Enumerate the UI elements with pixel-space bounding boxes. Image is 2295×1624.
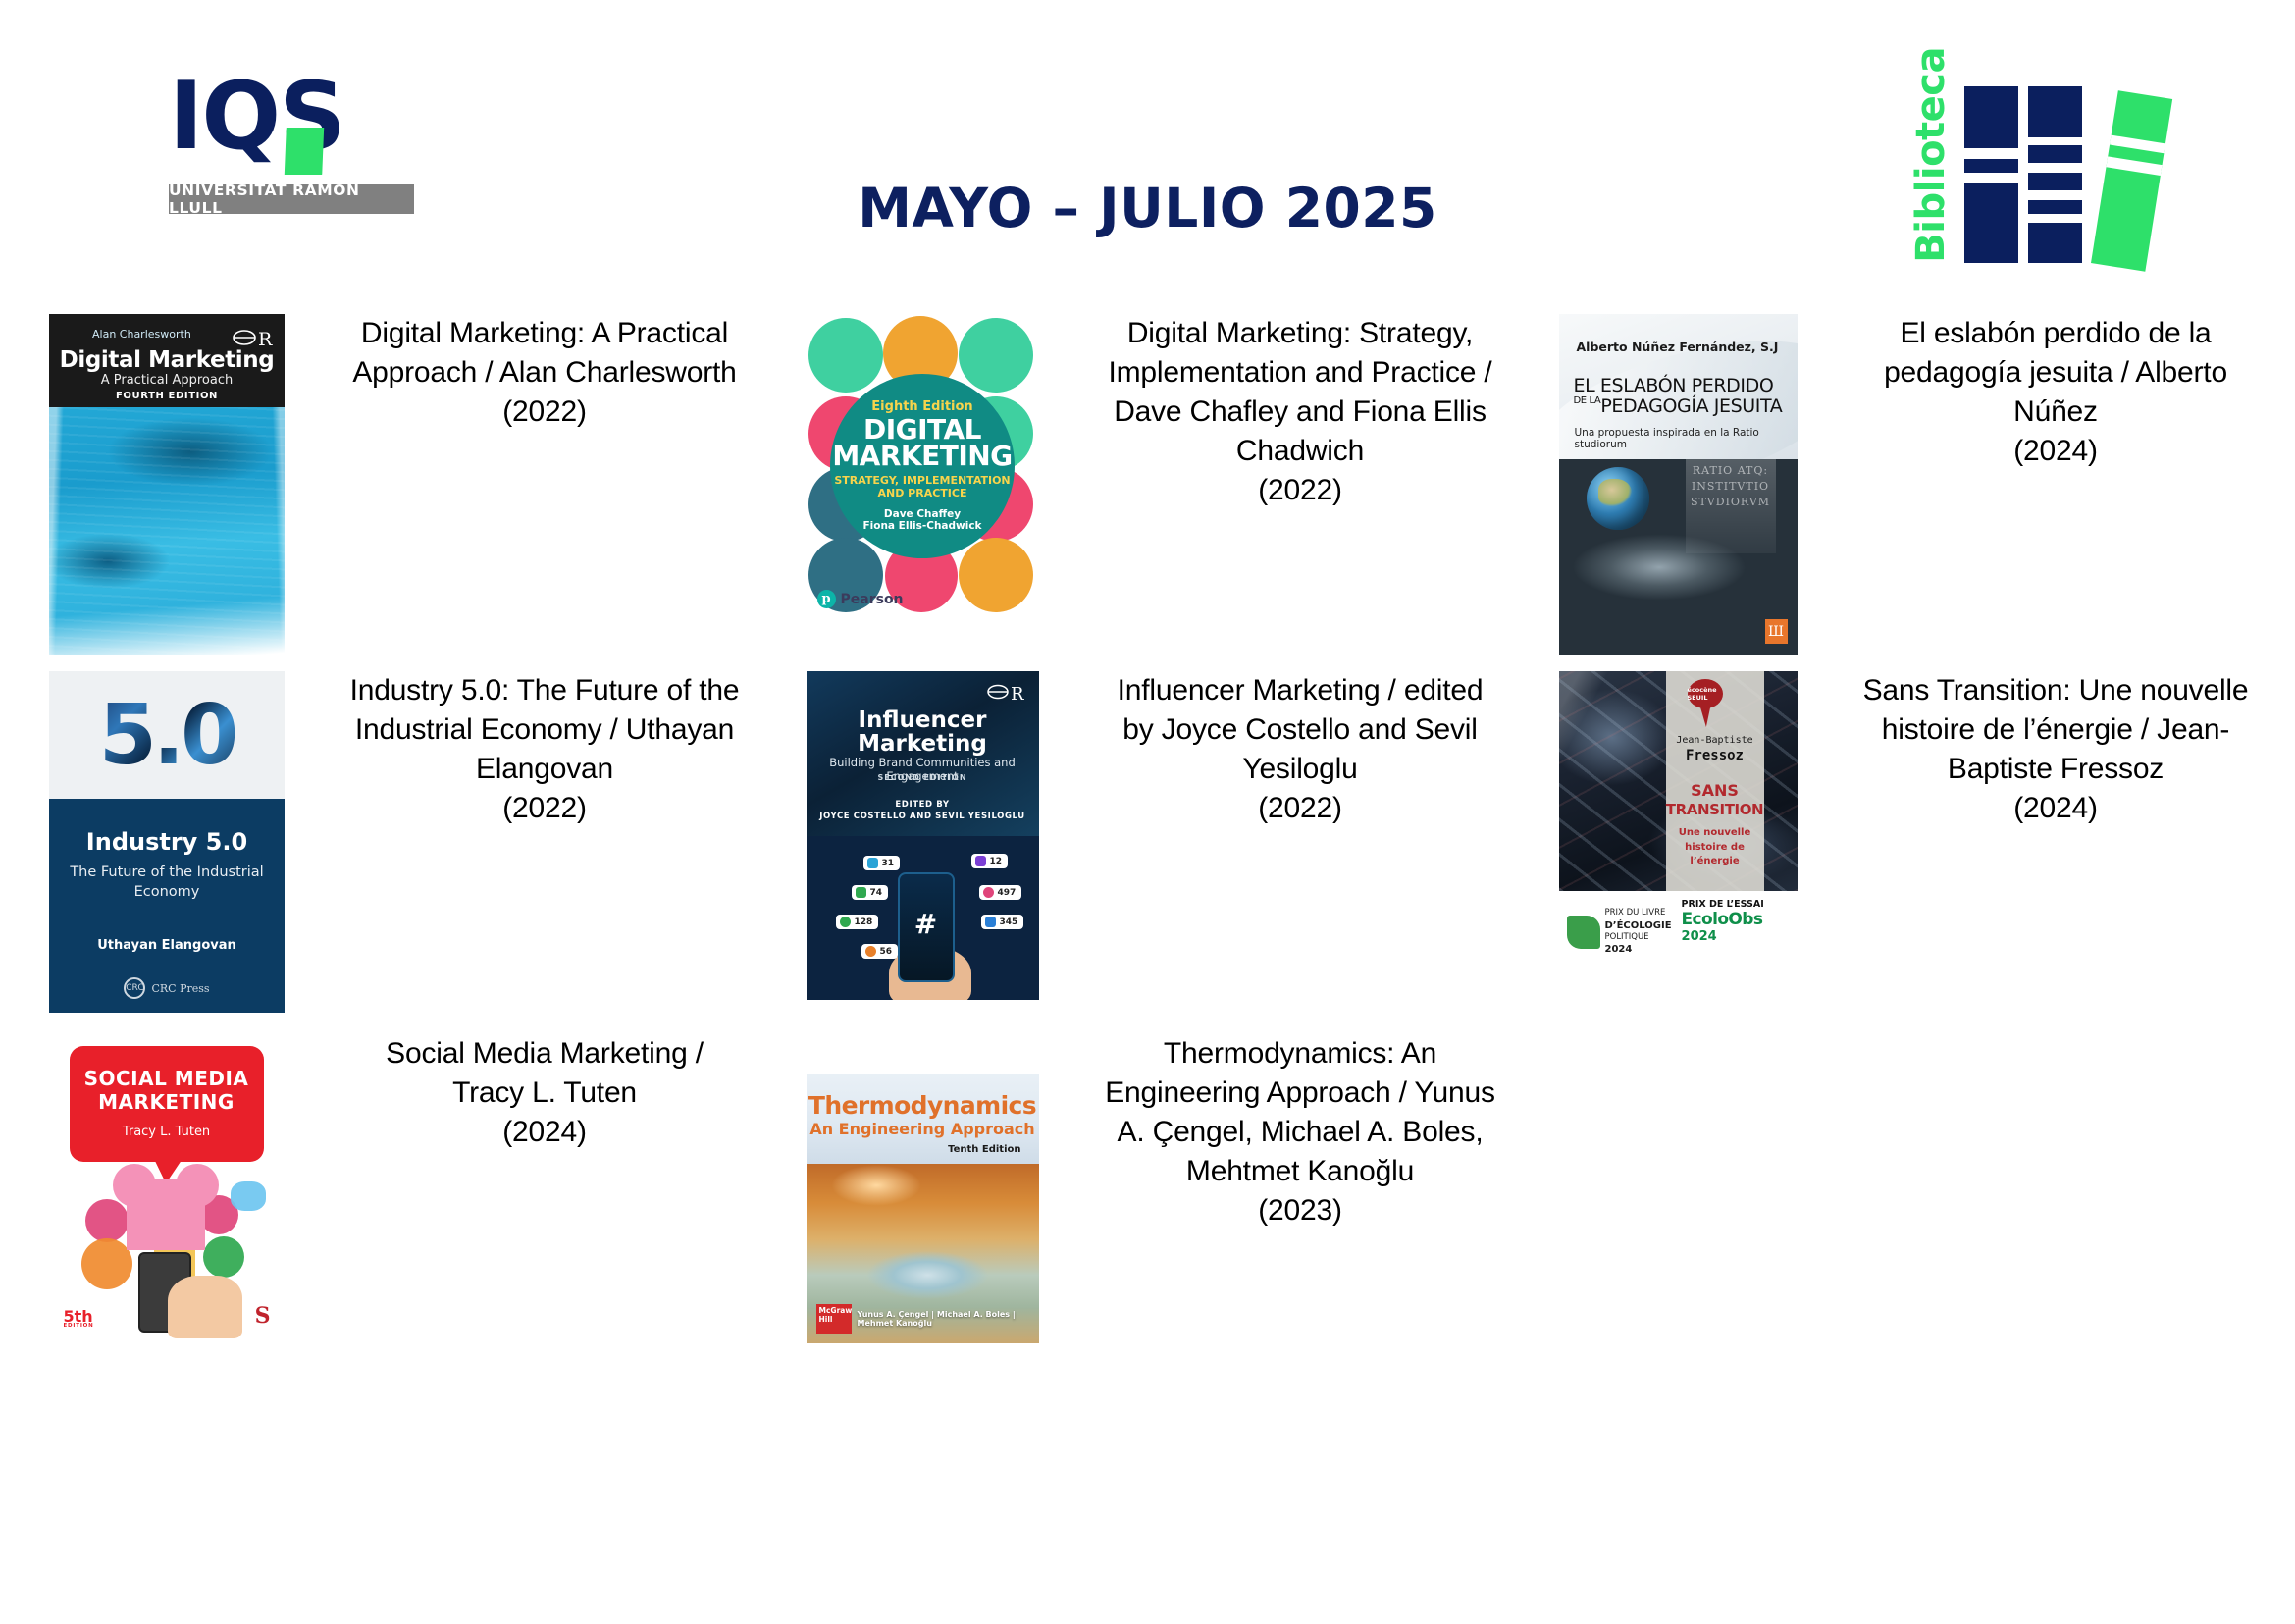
thumbs-up-badge-value: 74 bbox=[870, 888, 883, 898]
cover-author: Uthayan Elangovan bbox=[49, 938, 285, 953]
cover-text-band: écocène SEUIL Jean-Baptiste Fressoz SANS… bbox=[1666, 671, 1764, 891]
book-cover-cell-6: écocène SEUIL Jean-Baptiste Fressoz SANS… bbox=[1511, 671, 1845, 1013]
cover-title-line-1: EL ESLABÓN PERDIDO bbox=[1574, 375, 1774, 396]
book-cover-cell-8: Thermodynamics An Engineering Approach T… bbox=[756, 1034, 1089, 1343]
heart-badge-value: 497 bbox=[998, 888, 1017, 898]
heart-icon bbox=[127, 1179, 205, 1250]
cover-subtitle: STRATEGY, IMPLEMENTATION AND PRACTICE bbox=[830, 475, 1015, 499]
book-spine-navy-1-icon bbox=[1964, 86, 2018, 263]
svg-text:R: R bbox=[258, 329, 273, 350]
book-caption: Digital Marketing: Strategy, Implementat… bbox=[1103, 314, 1497, 509]
cover-sans-transition: écocène SEUIL Jean-Baptiste Fressoz SANS… bbox=[1559, 671, 1798, 966]
person-badge: 345 bbox=[981, 915, 1024, 929]
pearson-mark-icon: p bbox=[817, 590, 836, 608]
book-caption-cell-5: Influencer Marketing / edited by Joyce C… bbox=[1089, 671, 1511, 1013]
cover-thermodynamics: Thermodynamics An Engineering Approach T… bbox=[807, 1074, 1039, 1343]
twitter-icon bbox=[231, 1181, 266, 1211]
cover-title-line-2: DE LAPEDAGOGÍA JESUITA bbox=[1574, 395, 1783, 417]
cover-graphic-panel: 5.0 bbox=[49, 671, 285, 799]
cover-author: Alan Charlesworth bbox=[92, 328, 191, 341]
cover-edition: 5th EDITION bbox=[64, 1310, 94, 1329]
cover-social-media-marketing: SOCIAL MEDIA MARKETING Tracy L. Tuten 5t… bbox=[52, 1034, 283, 1338]
book-caption: Sans Transition: Une nouvelle histoire d… bbox=[1858, 671, 2253, 828]
person-icon bbox=[985, 917, 996, 927]
cover-edition: FOURTH EDITION bbox=[49, 391, 285, 401]
book-caption-cell-1: Digital Marketing: A Practical Approach … bbox=[334, 314, 756, 655]
camera-badge-value: 12 bbox=[990, 857, 1003, 866]
hashtag-icon: # bbox=[900, 908, 953, 940]
cover-author: Alberto Núñez Fernández, S.J bbox=[1577, 340, 1779, 354]
cover-ratio-text: RATIO ATQ: INSTITVTIO STVDIORVM bbox=[1686, 459, 1776, 553]
book-caption-cell-6: Sans Transition: Une nouvelle histoire d… bbox=[1845, 671, 2267, 1013]
camera-badge: 12 bbox=[971, 854, 1009, 868]
award-1-line-3: POLITIQUE bbox=[1605, 932, 1649, 942]
poster-header: IQS UNIVERSITAT RAMON LLULL MAYO – JULIO… bbox=[0, 0, 2295, 294]
award-ecoloobs: PRIX DE L’ESSAI EcoloObs 2024 bbox=[1682, 899, 1764, 966]
book-row-2: 5.0 Industry 5.0 The Future of the Indus… bbox=[0, 671, 2295, 1013]
pin-badge-value: 56 bbox=[880, 947, 893, 957]
book-caption: Digital Marketing: A Practical Approach … bbox=[347, 314, 742, 432]
instagram-icon bbox=[81, 1238, 132, 1289]
cover-title-line-2: Marketing bbox=[807, 732, 1039, 757]
comment-badge-value: 128 bbox=[855, 917, 873, 927]
cover-edition-label: EDITION bbox=[64, 1324, 94, 1329]
heart-badge: 497 bbox=[979, 885, 1022, 900]
book-spine-green-icon bbox=[2091, 90, 2172, 272]
pearson-logo: p Pearson bbox=[817, 590, 904, 608]
cover-artwork bbox=[49, 407, 285, 655]
phone-icon: # bbox=[898, 872, 955, 982]
book-caption: Influencer Marketing / edited by Joyce C… bbox=[1103, 671, 1497, 828]
publisher-mark-icon: Ш bbox=[1765, 619, 1788, 644]
cover-editors: JOYCE COSTELLO AND SEVIL YESILOGLU bbox=[807, 811, 1039, 822]
svg-text:R: R bbox=[1011, 684, 1024, 705]
cover-author-line-1: Jean-Baptiste bbox=[1666, 735, 1764, 746]
pinterest-icon bbox=[85, 1199, 129, 1242]
book-caption-cell-4: Industry 5.0: The Future of the Industri… bbox=[334, 671, 756, 1013]
biblioteca-label: Biblioteca bbox=[1908, 47, 1954, 263]
crc-label: CRC Press bbox=[151, 982, 209, 995]
crc-mark-icon: CRC bbox=[124, 977, 145, 999]
cover-title-line-1: Influencer bbox=[807, 708, 1039, 733]
pin-icon bbox=[865, 946, 876, 957]
book-caption-cell-7: Social Media Marketing / Tracy L. Tuten … bbox=[334, 1034, 756, 1343]
cover-title-line-1: SANS bbox=[1666, 781, 1764, 800]
cover-author-line-2: Fressoz bbox=[1666, 748, 1764, 763]
cover-authors: Yunus A. Çengel | Michael A. Boles | Meh… bbox=[858, 1310, 1039, 1328]
pin-badge: 56 bbox=[861, 944, 899, 959]
cover-author-1: Dave Chaffey bbox=[884, 508, 961, 521]
whatsapp-icon bbox=[203, 1236, 244, 1278]
routledge-logo-icon: R bbox=[232, 326, 275, 351]
award-1-line-1: PRIX DU LIVRE bbox=[1605, 908, 1666, 917]
sage-logo-icon: S bbox=[255, 1303, 271, 1329]
book-row-3: SOCIAL MEDIA MARKETING Tracy L. Tuten 5t… bbox=[0, 1034, 2295, 1343]
book-grid: Alan Charlesworth Digital Marketing A Pr… bbox=[0, 314, 2295, 1343]
cover-subtitle: Une nouvelle histoire de l’énergie bbox=[1666, 826, 1764, 869]
book-cover-cell-2: Eighth Edition DIGITAL MARKETING STRATEG… bbox=[756, 314, 1089, 655]
cover-eslabon-perdido: Alberto Núñez Fernández, S.J EL ESLABÓN … bbox=[1559, 314, 1798, 655]
book-caption-cell-2: Digital Marketing: Strategy, Implementat… bbox=[1089, 314, 1511, 655]
biblioteca-wordmark: Biblioteca bbox=[1908, 67, 1954, 263]
award-2-line-1: PRIX DE L’ESSAI bbox=[1682, 899, 1764, 910]
cover-title-line-2: MARKETING bbox=[832, 444, 1012, 470]
mail-badge-value: 31 bbox=[882, 859, 895, 868]
hand-icon bbox=[168, 1276, 242, 1338]
thumbs-up-badge: 74 bbox=[852, 885, 889, 900]
iqs-wordmark: IQS bbox=[169, 71, 414, 177]
pearson-label: Pearson bbox=[841, 592, 904, 607]
book-spine-navy-2-icon bbox=[2028, 86, 2082, 263]
cover-center-circle: Eighth Edition DIGITAL MARKETING STRATEG… bbox=[830, 374, 1015, 558]
book-cover-cell-4: 5.0 Industry 5.0 The Future of the Indus… bbox=[0, 671, 334, 1013]
cover-title-line-2: MARKETING bbox=[70, 1091, 264, 1113]
cover-edition: SECOND EDITION bbox=[807, 773, 1039, 782]
book-caption: Social Media Marketing / Tracy L. Tuten … bbox=[347, 1034, 742, 1152]
heart-icon bbox=[983, 887, 994, 898]
book-cover-cell-5: R Influencer Marketing Building Brand Co… bbox=[756, 671, 1089, 1013]
cover-digital-marketing-strategy: Eighth Edition DIGITAL MARKETING STRATEG… bbox=[807, 314, 1039, 618]
book-caption: El eslabón perdido de la pedagogía jesui… bbox=[1858, 314, 2253, 471]
thumbs-up-icon bbox=[856, 887, 866, 898]
book-caption: Thermodynamics: An Engineering Approach … bbox=[1103, 1034, 1497, 1230]
globe-icon bbox=[1587, 467, 1649, 530]
mail-badge: 31 bbox=[863, 856, 901, 870]
cover-author-2: Fiona Ellis-Chadwick bbox=[862, 520, 981, 533]
cover-title-line-2: TRANSITION bbox=[1666, 801, 1764, 818]
mail-icon bbox=[867, 858, 878, 868]
cover-title: Thermodynamics bbox=[807, 1091, 1039, 1120]
book-caption-cell-3: El eslabón perdido de la pedagogía jesui… bbox=[1845, 314, 2267, 655]
award-2-year: 2024 bbox=[1682, 929, 1764, 944]
award-1-year: 2024 bbox=[1605, 944, 1633, 955]
crc-press-logo: CRC CRC Press bbox=[49, 977, 285, 999]
cover-title-dela: DE LA bbox=[1574, 395, 1601, 406]
cover-subtitle: A Practical Approach bbox=[49, 373, 285, 388]
empty-grid-cell bbox=[1511, 1034, 2267, 1343]
routledge-logo-icon: R bbox=[986, 681, 1027, 706]
book-caption: Industry 5.0: The Future of the Industri… bbox=[347, 671, 742, 828]
cover-edited-by: EDITED BY bbox=[807, 799, 1039, 811]
award-1-line-2: D’ÉCOLOGIE bbox=[1605, 920, 1672, 931]
bubble-selfie-icon bbox=[808, 318, 883, 393]
bubble-payment-icon bbox=[959, 318, 1033, 393]
cover-industry-50: 5.0 Industry 5.0 The Future of the Indus… bbox=[49, 671, 285, 1013]
mcgraw-hill-logo: McGraw Hill bbox=[816, 1304, 852, 1334]
seuil-seal-icon: écocène SEUIL bbox=[1688, 679, 1723, 708]
leaf-icon bbox=[1567, 916, 1600, 949]
biblioteca-logo: Biblioteca bbox=[1908, 67, 2168, 263]
camera-icon bbox=[975, 856, 986, 866]
cover-subtitle: An Engineering Approach bbox=[807, 1120, 1039, 1138]
comment-icon bbox=[840, 917, 851, 927]
book-caption-cell-8: Thermodynamics: An Engineering Approach … bbox=[1089, 1034, 1511, 1343]
poster-page: IQS UNIVERSITAT RAMON LLULL MAYO – JULIO… bbox=[0, 0, 2295, 1624]
award-2-line-2: EcoloObs bbox=[1682, 910, 1764, 929]
cover-edition: Eighth Edition bbox=[871, 399, 972, 414]
cover-subtitle: Una propuesta inspirada en la Ratio stud… bbox=[1575, 427, 1798, 450]
award-badges: PRIX DU LIVRE D’ÉCOLOGIE POLITIQUE 2024 … bbox=[1559, 899, 1798, 966]
person-badge-value: 345 bbox=[1000, 917, 1018, 927]
comment-badge: 128 bbox=[836, 915, 879, 929]
cover-digital-marketing-practical: Alan Charlesworth Digital Marketing A Pr… bbox=[49, 314, 285, 655]
cover-graphic-text: 5.0 bbox=[99, 687, 235, 784]
cover-author: Tracy L. Tuten bbox=[70, 1125, 264, 1139]
cover-influencer-marketing: R Influencer Marketing Building Brand Co… bbox=[807, 671, 1039, 1000]
book-cover-cell-3: Alberto Núñez Fernández, S.J EL ESLABÓN … bbox=[1511, 314, 1845, 655]
cover-edition: Tenth Edition bbox=[948, 1144, 1020, 1155]
award-ecologie-text: PRIX DU LIVRE D’ÉCOLOGIE POLITIQUE 2024 bbox=[1605, 908, 1672, 957]
cover-title: Industry 5.0 bbox=[49, 828, 285, 856]
book-cover-cell-1: Alan Charlesworth Digital Marketing A Pr… bbox=[0, 314, 334, 655]
cover-subtitle: The Future of the Industrial Economy bbox=[49, 864, 285, 902]
award-ecologie-politique: PRIX DU LIVRE D’ÉCOLOGIE POLITIQUE 2024 bbox=[1567, 899, 1672, 966]
cover-title-main: PEDAGOGÍA JESUITA bbox=[1600, 395, 1782, 417]
book-row-1: Alan Charlesworth Digital Marketing A Pr… bbox=[0, 314, 2295, 655]
bubble-target-icon bbox=[959, 538, 1033, 612]
book-cover-cell-7: SOCIAL MEDIA MARKETING Tracy L. Tuten 5t… bbox=[0, 1034, 334, 1343]
cover-speech-bubble: SOCIAL MEDIA MARKETING Tracy L. Tuten bbox=[70, 1046, 264, 1162]
cover-title-line-1: SOCIAL MEDIA bbox=[70, 1068, 264, 1089]
